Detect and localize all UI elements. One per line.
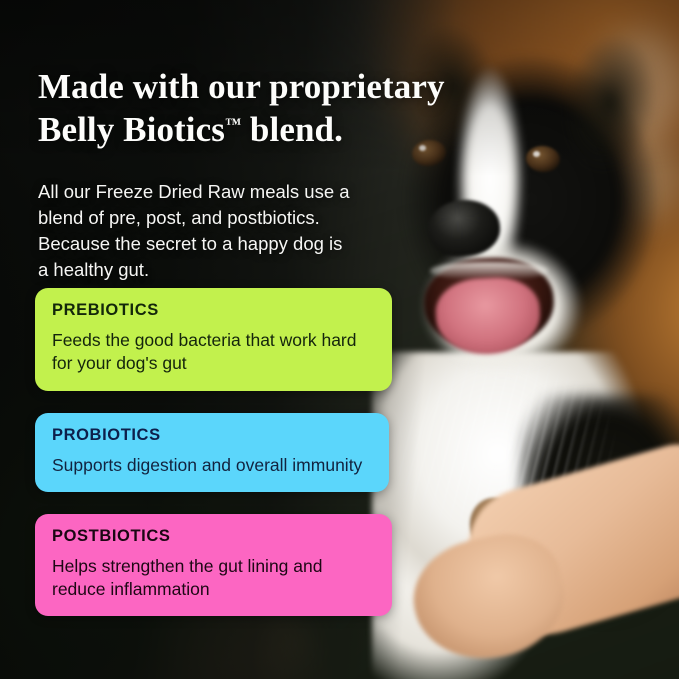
headline-line-1: Made with our proprietary: [38, 67, 445, 106]
content-layer: Made with our proprietary Belly Biotics™…: [0, 0, 679, 679]
benefit-card-prebiotics: PREBIOTICS Feeds the good bacteria that …: [35, 288, 392, 391]
card-body: Feeds the good bacteria that work hard f…: [52, 329, 375, 376]
benefit-card-list: PREBIOTICS Feeds the good bacteria that …: [35, 288, 392, 638]
card-title: POSTBIOTICS: [52, 527, 375, 546]
product-feature-graphic: Made with our proprietary Belly Biotics™…: [0, 0, 679, 679]
headline-line-2-suffix: blend.: [241, 110, 343, 149]
headline-brand: Belly Biotics: [38, 110, 225, 149]
card-body: Supports digestion and overall immunity: [52, 454, 372, 477]
card-body: Helps strengthen the gut lining and redu…: [52, 555, 375, 602]
intro-paragraph: All our Freeze Dried Raw meals use a ble…: [38, 179, 350, 284]
card-title: PREBIOTICS: [52, 301, 375, 320]
headline: Made with our proprietary Belly Biotics™…: [38, 65, 468, 151]
benefit-card-postbiotics: POSTBIOTICS Helps strengthen the gut lin…: [35, 514, 392, 617]
card-title: PROBIOTICS: [52, 426, 372, 445]
trademark-symbol: ™: [225, 116, 241, 133]
benefit-card-probiotics: PROBIOTICS Supports digestion and overal…: [35, 413, 389, 492]
